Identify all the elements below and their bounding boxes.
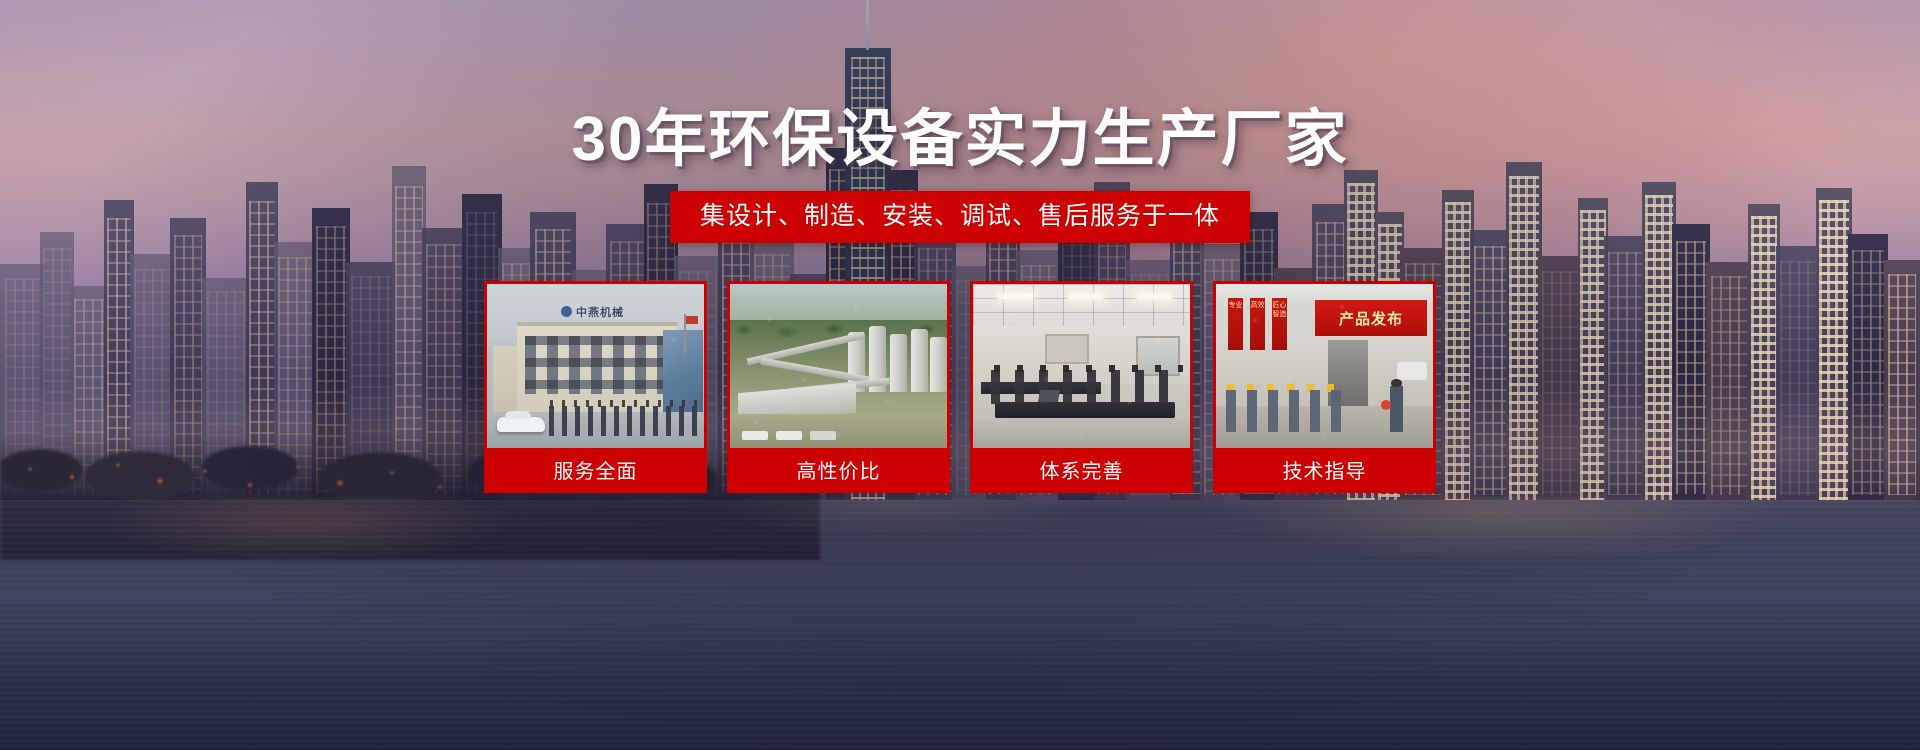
card-caption-value: 高性价比 (730, 448, 947, 490)
card-photo-headquarters: 中燕机械 (487, 284, 704, 448)
feature-card-system[interactable]: 体系完善 (970, 281, 1193, 493)
feature-card-value[interactable]: 高性价比 (727, 281, 950, 493)
silo (890, 334, 907, 392)
feature-card-list: 中燕机械 服务全面 (484, 281, 1436, 493)
card-caption-service: 服务全面 (487, 448, 704, 490)
worker-row (1226, 390, 1344, 432)
instructor-figure (1390, 386, 1403, 432)
banner-headline: 30年环保设备实力生产厂家 (0, 104, 1920, 176)
ceiling-light (1069, 294, 1103, 299)
feature-card-guidance[interactable]: 产品发布 专业 高效 匠心智造 技术指导 (1213, 281, 1436, 493)
card-caption-guidance: 技术指导 (1216, 448, 1433, 490)
truck (810, 431, 836, 440)
hero-banner: 30年环保设备实力生产厂家 集设计、制造、安装、调试、售后服务于一体 中燕机械 … (0, 0, 1920, 750)
banner-subtitle-bar: 集设计、制造、安装、调试、售后服务于一体 (670, 191, 1250, 243)
office-ceiling (973, 284, 1190, 326)
vertical-banner: 匠心智造 (1272, 298, 1287, 350)
ceiling-light (1137, 294, 1171, 299)
meeting-table (995, 402, 1175, 418)
card-photo-office-meeting (973, 284, 1190, 448)
flagpole-icon (684, 314, 686, 354)
card-photo-workshop-workers: 产品发布 专业 高效 匠心智造 (1216, 284, 1433, 448)
truck (776, 431, 802, 440)
parked-car (497, 417, 545, 432)
office-floor (973, 418, 1190, 448)
parked-van (1397, 362, 1427, 380)
silo (930, 337, 947, 392)
vertical-banner: 高效 (1250, 298, 1265, 350)
wall-board (1045, 334, 1089, 364)
truck (742, 431, 768, 440)
workshop-banner: 产品发布 (1315, 300, 1427, 336)
staff-row (549, 406, 699, 436)
silo (911, 329, 928, 392)
company-logo-mark (561, 306, 572, 317)
building-sign: 中燕机械 (561, 304, 624, 320)
ceiling-light (999, 294, 1033, 299)
building-sign-text: 中燕机械 (576, 307, 624, 319)
laptop-icon (1038, 390, 1060, 402)
banner-content: 30年环保设备实力生产厂家 集设计、制造、安装、调试、售后服务于一体 中燕机械 … (0, 0, 1920, 750)
seated-staff (991, 370, 1181, 404)
card-caption-system: 体系完善 (973, 448, 1190, 490)
feature-card-service[interactable]: 中燕机械 服务全面 (484, 281, 707, 493)
card-photo-plant-aerial (730, 284, 947, 448)
vertical-banner: 专业 (1228, 298, 1243, 350)
